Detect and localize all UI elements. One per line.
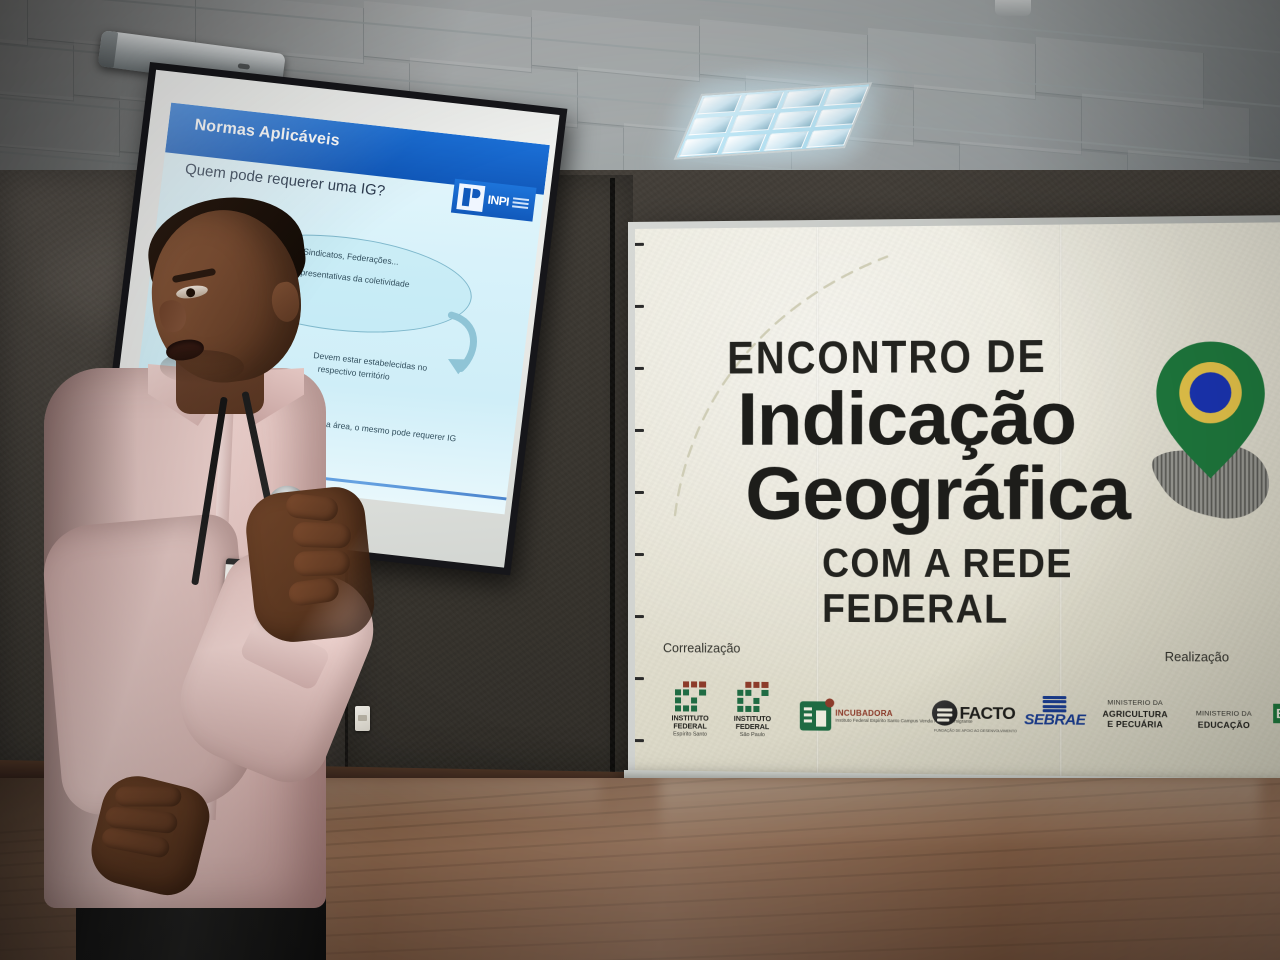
banner-clip [635, 615, 644, 618]
wall-seam [610, 178, 615, 778]
ceiling-sensor-icon [995, 0, 1031, 16]
light-cell [730, 113, 775, 133]
banner-surface: ENCONTRO DE Indicação Geográfica COM A R… [635, 222, 1280, 782]
light-cell [679, 137, 724, 157]
roller-cap [98, 30, 119, 68]
if-name-es: INSTITUTO FEDERAL [665, 714, 715, 731]
min-edu-line1: MINISTERIO DA [1196, 711, 1252, 720]
banner-clip [635, 677, 644, 680]
sebrae-wordmark: SEBRAE [1024, 711, 1085, 729]
banner-clip [635, 491, 644, 494]
min-agri-line2: AGRICULTURA [1103, 708, 1168, 719]
realizacao-label: Realização [1165, 650, 1229, 665]
governo-blocks-icon: B R A S [1273, 704, 1280, 724]
logo-sebrae: SEBRAE [1024, 696, 1085, 729]
min-edu-line2: EDUCAÇÃO [1196, 719, 1252, 730]
roller-indicator [238, 63, 251, 70]
logo-instituto-federal-es: INSTITUTO FEDERAL Espírito Santo [665, 681, 715, 738]
light-cell [815, 107, 860, 127]
presenter-hand-holding-mic [242, 484, 377, 646]
banner-line-2: Indicação [737, 375, 1076, 462]
correalizacao-label: Correalização [663, 641, 740, 655]
light-cell [764, 131, 809, 151]
incubadora-dot-icon [825, 698, 834, 707]
facto-wordmark: FACTO [960, 703, 1016, 724]
presenter [0, 190, 420, 960]
logo-governo-brasil: GOVERNO DO B R A S UNIÃO E RECONSTRUÇÃO [1273, 697, 1280, 735]
incubadora-building-icon [800, 701, 831, 730]
banner-clip [635, 429, 644, 432]
banner-clip [635, 305, 644, 308]
recessed-grid-light-icon [674, 82, 873, 159]
light-cell [739, 92, 784, 112]
banner-credits: Correalização Realização INSTITUTO FEDE [635, 641, 1280, 757]
banner-reflection [660, 778, 1260, 848]
logo-facto: FACTO FUNDAÇÃO DE APOIO AO DESENVOLVIMEN… [932, 700, 1015, 726]
banner-clip [635, 553, 644, 556]
curved-arrow-icon [439, 305, 488, 387]
location-pin-graphic [1136, 335, 1280, 530]
presenter-chin-shadow [160, 350, 244, 384]
banner-line-3: Geográfica [745, 450, 1130, 537]
sebrae-bars-icon [1043, 696, 1067, 712]
light-cell [688, 116, 733, 136]
facto-mark-icon [932, 700, 958, 725]
governo-bottom-text: UNIÃO E RECONSTRUÇÃO [1273, 724, 1280, 735]
governo-top-text: GOVERNO DO [1273, 697, 1280, 704]
banner-clip [635, 367, 644, 370]
banner-frame: ENCONTRO DE Indicação Geográfica COM A R… [628, 215, 1280, 789]
light-cell [772, 110, 817, 130]
photograph-scene: Normas Aplicáveis Quem pode requerer uma… [0, 0, 1280, 960]
light-cell [823, 86, 868, 106]
facto-subtext: FUNDAÇÃO DE APOIO AO DESENVOLVIMENTO [934, 729, 1017, 734]
min-agri-line3: E PECUÁRIA [1103, 719, 1168, 730]
if-sub-es: Espírito Santo [665, 731, 715, 737]
sponsor-logo-row: INSTITUTO FEDERAL Espírito Santo I [659, 667, 1280, 747]
logo-ministerio-agricultura: MINISTERIO DA AGRICULTURA E PECUÁRIA [1103, 700, 1168, 730]
if-name-sp: INSTITUTO FEDERAL [727, 715, 777, 732]
light-cell [781, 89, 826, 109]
banner-line-4: COM A REDE FEDERAL [822, 541, 1258, 634]
if-sub-sp: São Paulo [727, 732, 777, 738]
instituto-federal-grid-icon [737, 682, 768, 712]
light-cell [697, 95, 742, 115]
banner-clip [635, 243, 644, 246]
inpi-bars-icon [512, 197, 529, 209]
light-cell [721, 134, 766, 154]
inpi-wordmark: INPI [487, 193, 510, 209]
banner-clip [635, 739, 644, 742]
instituto-federal-grid-icon [675, 681, 706, 711]
pi-mark-icon [456, 183, 485, 212]
min-agri-line1: MINISTERIO DA [1103, 700, 1168, 709]
event-banner: ENCONTRO DE Indicação Geográfica COM A R… [628, 215, 1280, 789]
logo-ministerio-educacao: MINISTERIO DA EDUCAÇÃO [1196, 711, 1252, 730]
logo-instituto-federal-sp: INSTITUTO FEDERAL São Paulo [727, 682, 777, 739]
light-cell [806, 128, 851, 148]
